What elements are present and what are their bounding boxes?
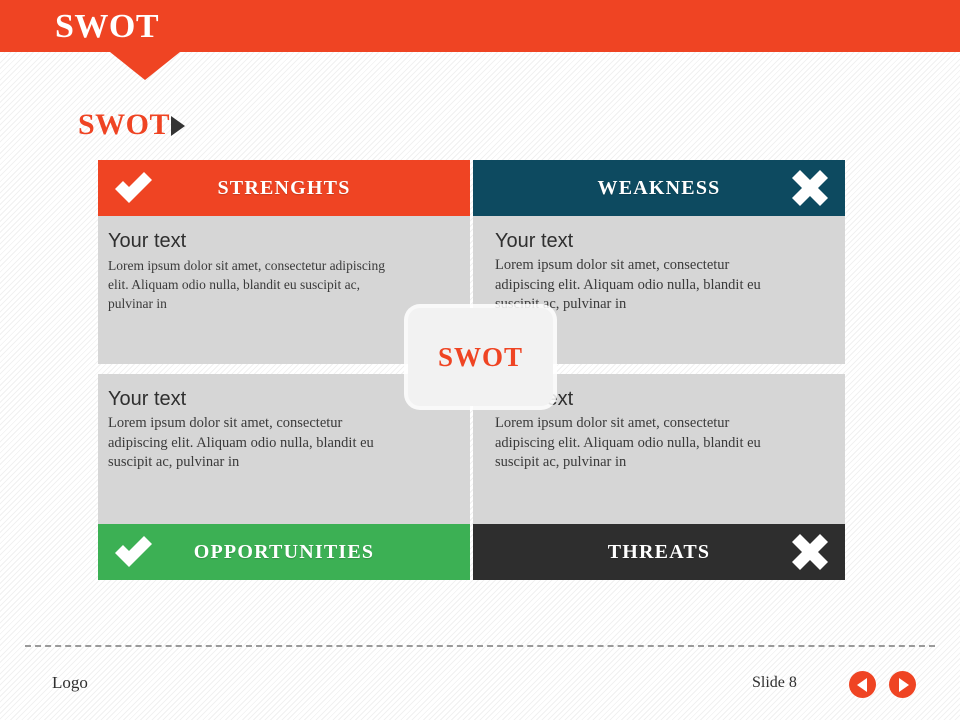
check-icon (110, 529, 156, 575)
band-label-strengths: STRENGHTS (217, 177, 350, 200)
band-threats[interactable]: THREATS (473, 524, 845, 580)
band-opportunities[interactable]: OPPORTUNITIES (98, 524, 470, 580)
center-swot-label: SWOT (438, 342, 523, 373)
swot-matrix: STRENGHTS WEAKNESS OPPORTUNITIES THREATS… (98, 160, 845, 580)
center-swot-badge: SWOT (408, 308, 553, 406)
panel-body-strengths: Lorem ipsum dolor sit amet, consectetur … (108, 256, 398, 313)
band-weakness[interactable]: WEAKNESS (473, 160, 845, 216)
band-strengths[interactable]: STRENGHTS (98, 160, 470, 216)
check-icon (110, 165, 156, 211)
panel-heading-strengths: Your text (108, 228, 452, 254)
panel-body-threats: Lorem ipsum dolor sit amet, consectetur … (495, 414, 767, 473)
band-label-threats: THREATS (608, 541, 711, 564)
slide-title-group: SWOT (78, 108, 185, 142)
cross-icon (787, 165, 833, 211)
triangle-left-icon (857, 678, 867, 692)
band-label-opportunities: OPPORTUNITIES (194, 541, 374, 564)
prev-slide-button[interactable] (849, 671, 876, 698)
triangle-right-icon (171, 116, 185, 136)
footer-logo: Logo (52, 673, 88, 693)
panel-heading-opportunities: Your text (108, 386, 452, 412)
panel-body-opportunities: Lorem ipsum dolor sit amet, consectetur … (108, 414, 390, 473)
panel-body-weakness: Lorem ipsum dolor sit amet, consectetur … (495, 256, 767, 315)
cross-icon (787, 529, 833, 575)
triangle-right-icon (899, 678, 909, 692)
band-label-weakness: WEAKNESS (598, 177, 721, 200)
next-slide-button[interactable] (889, 671, 916, 698)
slide-number: Slide 8 (752, 674, 797, 692)
header-title: SWOT (55, 8, 159, 46)
footer-divider (25, 645, 935, 647)
page-title: SWOT (78, 108, 170, 142)
header-notch-triangle (110, 52, 180, 80)
panel-heading-weakness: Your text (495, 228, 831, 254)
